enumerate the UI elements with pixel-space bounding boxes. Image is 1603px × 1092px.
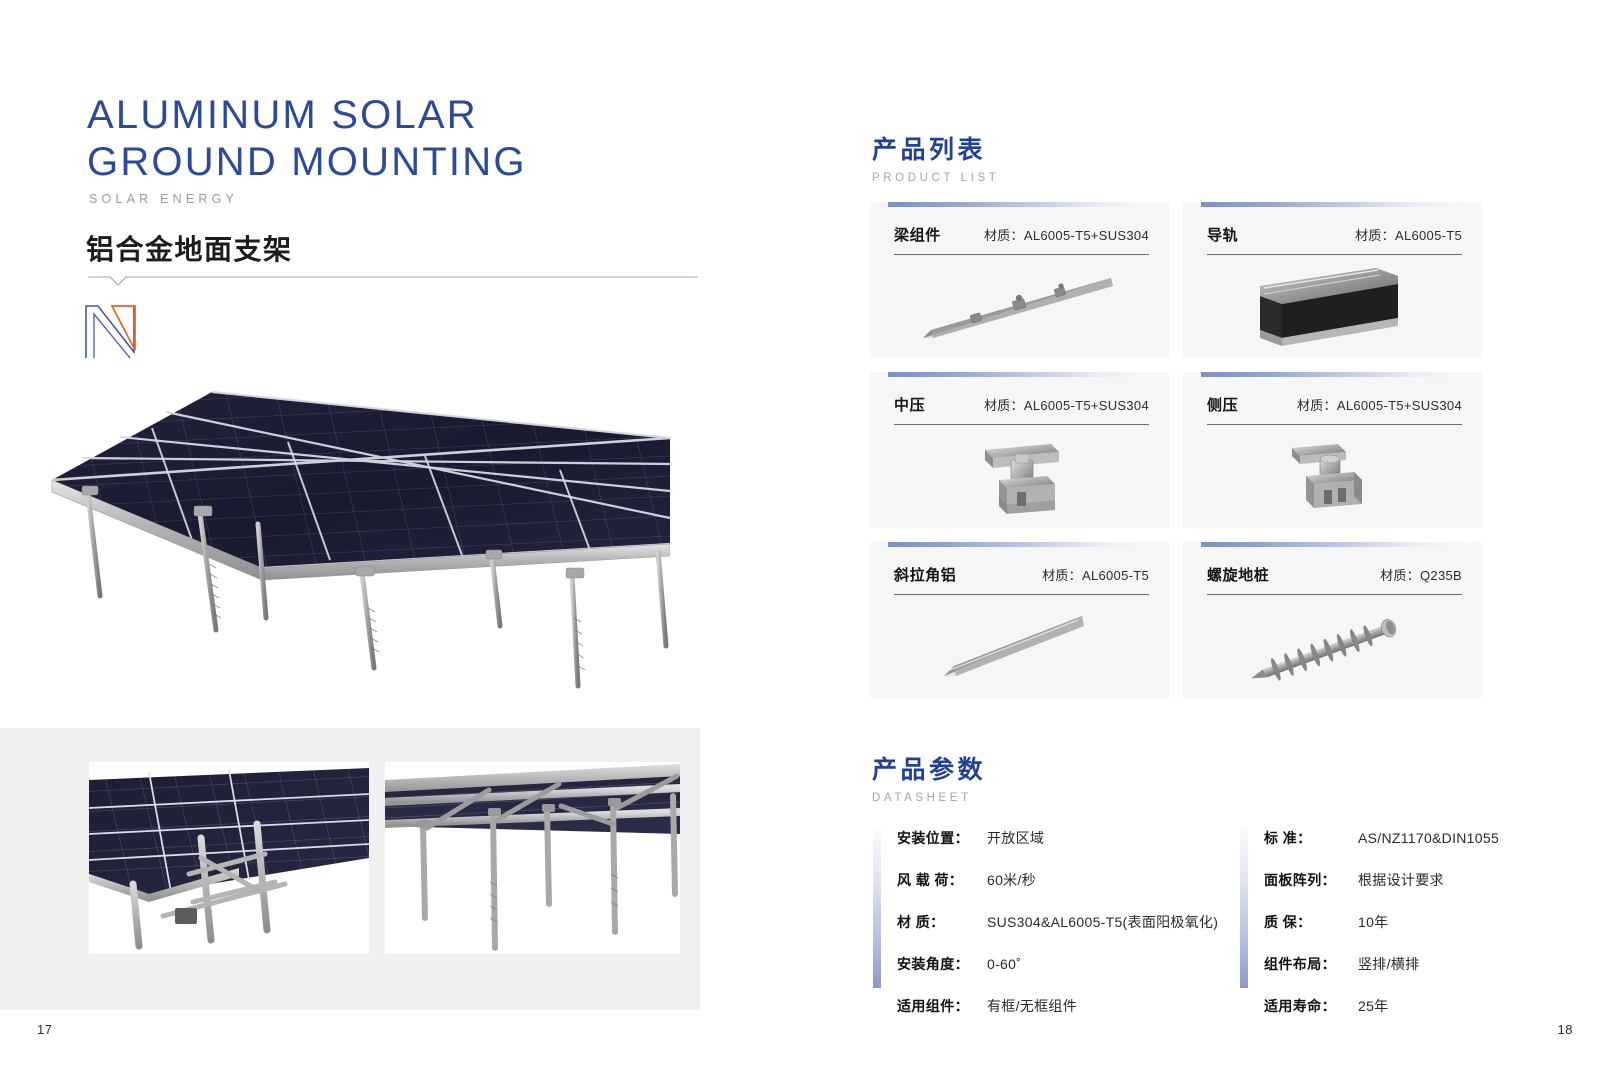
- datasheet-key: 风 载 荷：: [897, 870, 983, 890]
- datasheet-row: 适用寿命： 25年: [1264, 996, 1550, 1016]
- product-card-row: 斜拉角铝 材质：AL6005-T5: [870, 542, 1483, 698]
- datasheet-value: 竖排/横排: [1358, 954, 1419, 974]
- product-card-row: 梁组件 材质：AL6005-T5+SUS304: [870, 202, 1483, 358]
- datasheet-title-cn: 产品参数: [872, 750, 986, 786]
- datasheet-value: 25年: [1358, 996, 1388, 1016]
- product-list-title-cn: 产品列表: [872, 130, 999, 166]
- datasheet-column-left: 安装位置： 开放区域 风 载 荷： 60米/秒 材 质： SUS304&AL60…: [873, 828, 1223, 1016]
- product-material: 材质：AL6005-T5+SUS304: [984, 225, 1149, 244]
- card-accent-bar: [888, 202, 1155, 207]
- product-card[interactable]: 螺旋地桩 材质：Q235B: [1183, 542, 1482, 698]
- diagonal-brace-figure: [870, 604, 1169, 698]
- product-material: 材质：AL6005-T5+SUS304: [984, 395, 1149, 414]
- card-header: 导轨 材质：AL6005-T5: [1207, 224, 1462, 255]
- card-header: 斜拉角铝 材质：AL6005-T5: [894, 564, 1149, 595]
- datasheet-value: 10年: [1358, 912, 1388, 932]
- product-card[interactable]: 导轨 材质：AL6005-T5: [1183, 202, 1482, 358]
- title-divider-rule: [88, 272, 698, 288]
- datasheet-row: 材 质： SUS304&AL6005-T5(表面阳极氧化): [897, 912, 1223, 932]
- datasheet-value: 有框/无框组件: [987, 996, 1077, 1016]
- title-line-2: GROUND MOUNTING: [87, 139, 527, 186]
- datasheet-value: 60米/秒: [987, 870, 1036, 890]
- datasheet-title-en: DATASHEET: [872, 792, 986, 804]
- page-subtitle-english: SOLAR ENERGY: [89, 192, 238, 206]
- end-clamp-figure: [1183, 434, 1482, 528]
- datasheet-value: 根据设计要求: [1358, 870, 1444, 890]
- datasheet-key: 安装位置：: [897, 828, 983, 848]
- datasheet-key: 组件布局：: [1264, 954, 1348, 974]
- card-header: 梁组件 材质：AL6005-T5+SUS304: [894, 224, 1149, 255]
- datasheet-key: 适用组件：: [897, 996, 983, 1016]
- product-name: 导轨: [1207, 224, 1238, 245]
- card-accent-bar: [888, 372, 1155, 377]
- card-header: 侧压 材质：AL6005-T5+SUS304: [1207, 394, 1462, 425]
- datasheet-key: 面板阵列：: [1264, 870, 1348, 890]
- card-accent-bar: [888, 542, 1155, 547]
- product-name: 斜拉角铝: [894, 564, 956, 585]
- product-material: 材质：AL6005-T5: [1042, 565, 1149, 584]
- page-title-chinese: 铝合金地面支架: [86, 228, 293, 268]
- datasheet-accent-bar-right: [1240, 828, 1248, 988]
- card-accent-bar: [1201, 202, 1468, 207]
- datasheet-key: 材 质：: [897, 912, 983, 932]
- product-card[interactable]: 梁组件 材质：AL6005-T5+SUS304: [870, 202, 1169, 358]
- page-title-english: ALUMINUM SOLAR GROUND MOUNTING: [87, 92, 527, 186]
- product-name: 梁组件: [894, 224, 941, 245]
- mid-clamp-figure: [870, 434, 1169, 528]
- array-underside-photo: [385, 762, 680, 954]
- datasheet-value: SUS304&AL6005-T5(表面阳极氧化): [987, 912, 1218, 932]
- datasheet-row: 安装位置： 开放区域: [897, 828, 1223, 848]
- product-list-section-header: 产品列表 PRODUCT LIST: [872, 130, 999, 184]
- beam-assembly-figure: [870, 264, 1169, 358]
- datasheet-section-header: 产品参数 DATASHEET: [872, 750, 986, 804]
- card-header: 螺旋地桩 材质：Q235B: [1207, 564, 1462, 595]
- datasheet-value: 0-60˚: [987, 956, 1021, 972]
- product-name: 螺旋地桩: [1207, 564, 1269, 585]
- n-monogram-logo: [82, 300, 148, 362]
- datasheet-key: 标 准：: [1264, 828, 1348, 848]
- datasheet-row: 标 准： AS/NZ1170&DIN1055: [1264, 828, 1550, 848]
- product-card[interactable]: 侧压 材质：AL6005-T5+SUS304: [1183, 372, 1482, 528]
- hero-product-render: [30, 368, 670, 708]
- page-number-left: 17: [37, 1022, 52, 1037]
- card-accent-bar: [1201, 372, 1468, 377]
- title-line-1: ALUMINUM SOLAR: [87, 92, 527, 139]
- left-page: ALUMINUM SOLAR GROUND MOUNTING SOLAR ENE…: [0, 0, 760, 1092]
- datasheet-key: 质 保：: [1264, 912, 1348, 932]
- datasheet-accent-bar-left: [873, 828, 881, 988]
- rail-figure: [1183, 264, 1482, 358]
- datasheet-value: 开放区域: [987, 828, 1044, 848]
- datasheet-row: 安装角度： 0-60˚: [897, 954, 1223, 974]
- product-list-title-en: PRODUCT LIST: [872, 172, 999, 184]
- page-number-right: 18: [1558, 1022, 1573, 1037]
- datasheet-row: 风 载 荷： 60米/秒: [897, 870, 1223, 890]
- array-detail-photo: [89, 762, 369, 954]
- card-accent-bar: [1201, 542, 1468, 547]
- ground-screw-figure: [1183, 604, 1482, 698]
- product-material: 材质：AL6005-T5: [1355, 225, 1462, 244]
- datasheet-value: AS/NZ1170&DIN1055: [1358, 830, 1499, 846]
- datasheet-column-right: 标 准： AS/NZ1170&DIN1055 面板阵列： 根据设计要求 质 保：…: [1240, 828, 1550, 1016]
- datasheet-key: 适用寿命：: [1264, 996, 1348, 1016]
- product-card[interactable]: 斜拉角铝 材质：AL6005-T5: [870, 542, 1169, 698]
- product-card-row: 中压 材质：AL6005-T5+SUS304: [870, 372, 1483, 528]
- product-material: 材质：AL6005-T5+SUS304: [1297, 395, 1462, 414]
- datasheet-row: 组件布局： 竖排/横排: [1264, 954, 1550, 974]
- datasheet-row: 适用组件： 有框/无框组件: [897, 996, 1223, 1016]
- datasheet-row: 面板阵列： 根据设计要求: [1264, 870, 1550, 890]
- product-name: 中压: [894, 394, 925, 415]
- product-card[interactable]: 中压 材质：AL6005-T5+SUS304: [870, 372, 1169, 528]
- catalog-spread: ALUMINUM SOLAR GROUND MOUNTING SOLAR ENE…: [0, 0, 1603, 1092]
- datasheet-row: 质 保： 10年: [1264, 912, 1550, 932]
- product-name: 侧压: [1207, 394, 1238, 415]
- product-material: 材质：Q235B: [1380, 565, 1462, 584]
- datasheet-key: 安装角度：: [897, 954, 983, 974]
- product-card-grid: 梁组件 材质：AL6005-T5+SUS304: [870, 202, 1483, 712]
- card-header: 中压 材质：AL6005-T5+SUS304: [894, 394, 1149, 425]
